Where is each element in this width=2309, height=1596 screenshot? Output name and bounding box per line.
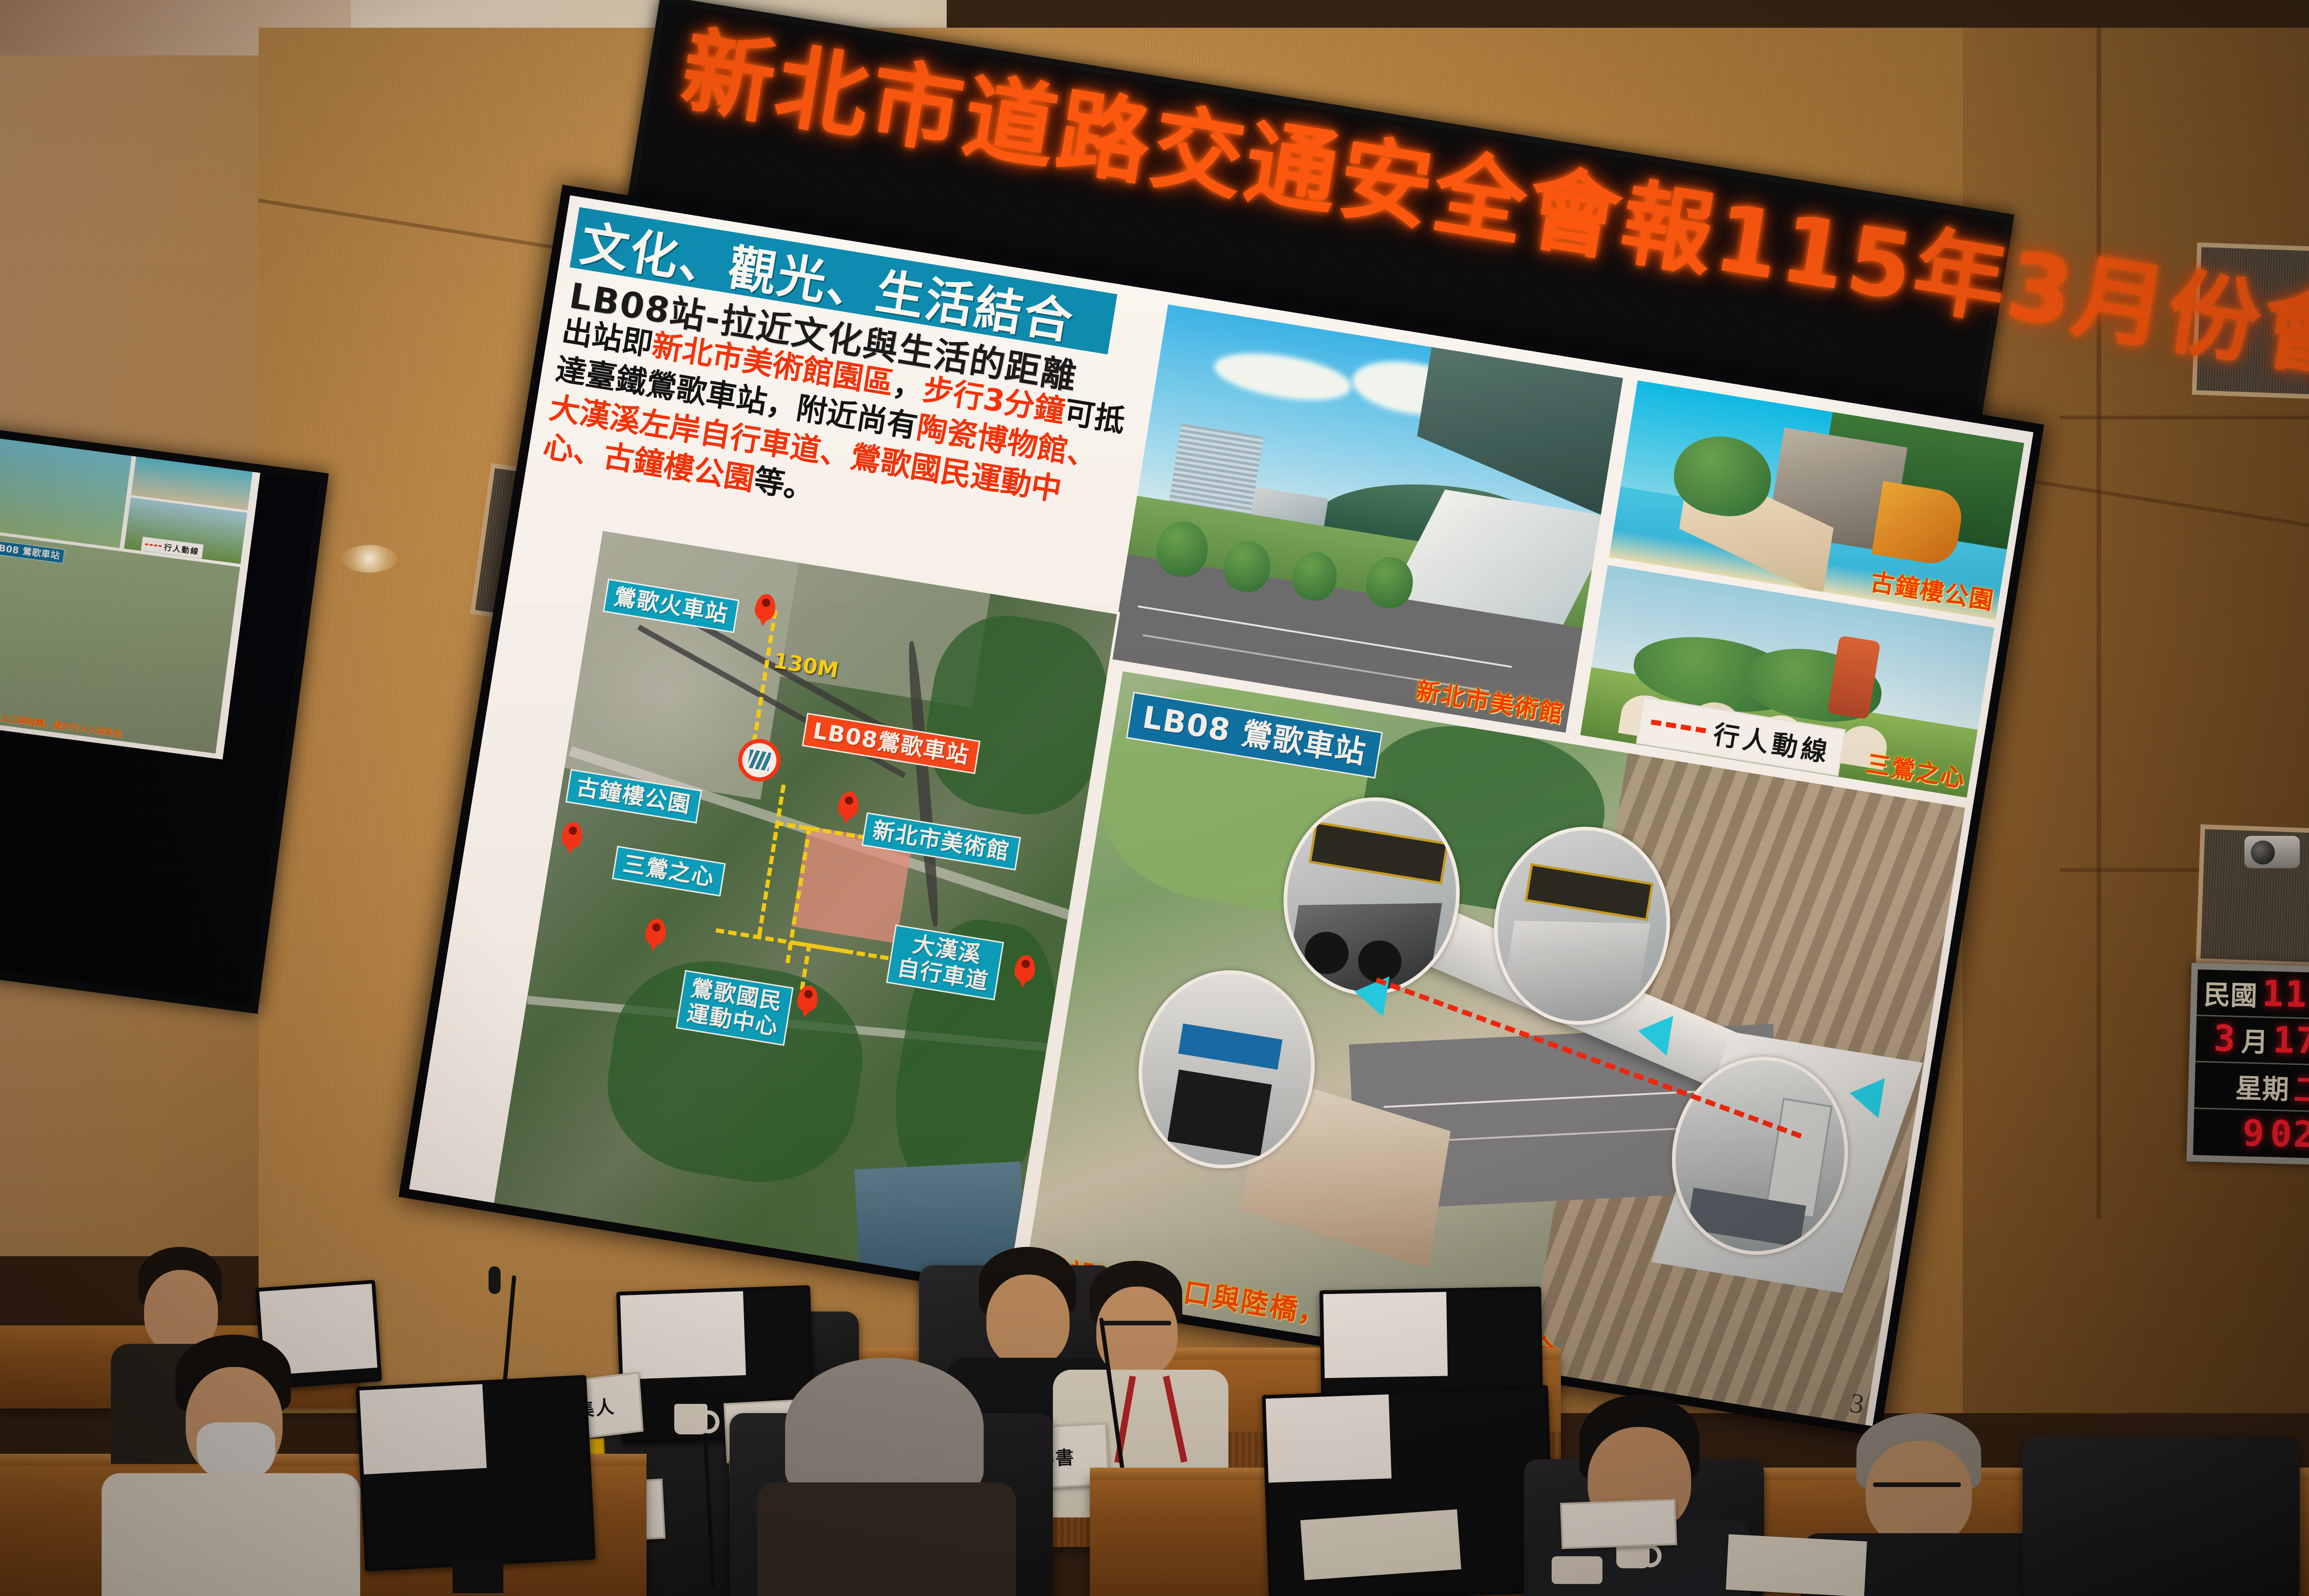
sec-station-caption: 增設進站入口與陸橋，提升行人入站安全	[0, 707, 123, 739]
clock-era-label: 民國	[2203, 973, 2258, 1013]
clock-row-date: 3 月 17 日	[2195, 1016, 2309, 1067]
desk-monitor-front-left	[356, 1375, 596, 1572]
sec-legend-label: 行人動線	[163, 541, 200, 557]
digital-clock: 民國 115 年 3 月 17 日 星期 二 9 02	[2186, 963, 2309, 1166]
clock-minute: 02	[2270, 1113, 2309, 1156]
sec-station-tag: LB08 鶯歌車站	[0, 540, 65, 564]
monitor-stand	[453, 1561, 503, 1593]
security-camera-icon	[2244, 836, 2300, 868]
photo-museum-street: 新北市美術館	[1107, 301, 1626, 736]
microphone-head-icon	[489, 1266, 501, 1294]
clock-day: 17	[2272, 1020, 2309, 1063]
ceiling-light	[342, 545, 397, 573]
clock-weekday-value: 二	[2293, 1064, 2309, 1112]
clock-row-year: 民國 115 年	[2197, 969, 2309, 1020]
photo-detail-station-entrance	[1124, 957, 1329, 1181]
clock-month: 3	[2213, 1018, 2237, 1060]
clock-row-weekday: 星期 二	[2194, 1062, 2309, 1113]
clock-weekday-label: 星期	[2235, 1066, 2290, 1106]
glasses-icon	[1102, 1321, 1171, 1325]
wall-seam	[2060, 416, 2309, 419]
legend-dash-icon	[1650, 719, 1706, 733]
glasses-icon	[1873, 1482, 1961, 1487]
clock-hour: 9	[2242, 1112, 2266, 1155]
paper-document	[1300, 1509, 1461, 1580]
clock-year: 115	[2261, 973, 2309, 1016]
desk-phone	[1552, 1556, 1602, 1584]
meeting-room-photo: 新北市道路交通安全會報115年3月份會議 新北市道路交通安全會報 文化、觀光、生…	[0, 0, 2309, 1596]
coffee-mug	[674, 1404, 707, 1434]
paper-document	[1726, 1534, 1867, 1596]
flow-arrow-left	[1351, 971, 1390, 1016]
map-panel: 130M 鶯歌火車站 LB08鶯歌車站 古鐘樓公	[490, 528, 1120, 1291]
clock-row-time: 9 02	[2193, 1109, 2309, 1160]
clock-month-unit: 月	[2241, 1020, 2268, 1059]
chair-far-right	[2023, 1436, 2300, 1596]
flow-arrow-mid	[1635, 1011, 1673, 1056]
wall-seam	[2097, 18, 2101, 1219]
photo-detail-platform	[1657, 1044, 1862, 1268]
secondary-display-slide: 文化、觀光、生活結合 LB08站-拉近文化與生活的距離 出站即新北市美術館園區，…	[0, 416, 263, 760]
flow-arrow-right	[1846, 1073, 1885, 1118]
nameplate-blank-right	[1560, 1499, 1677, 1549]
